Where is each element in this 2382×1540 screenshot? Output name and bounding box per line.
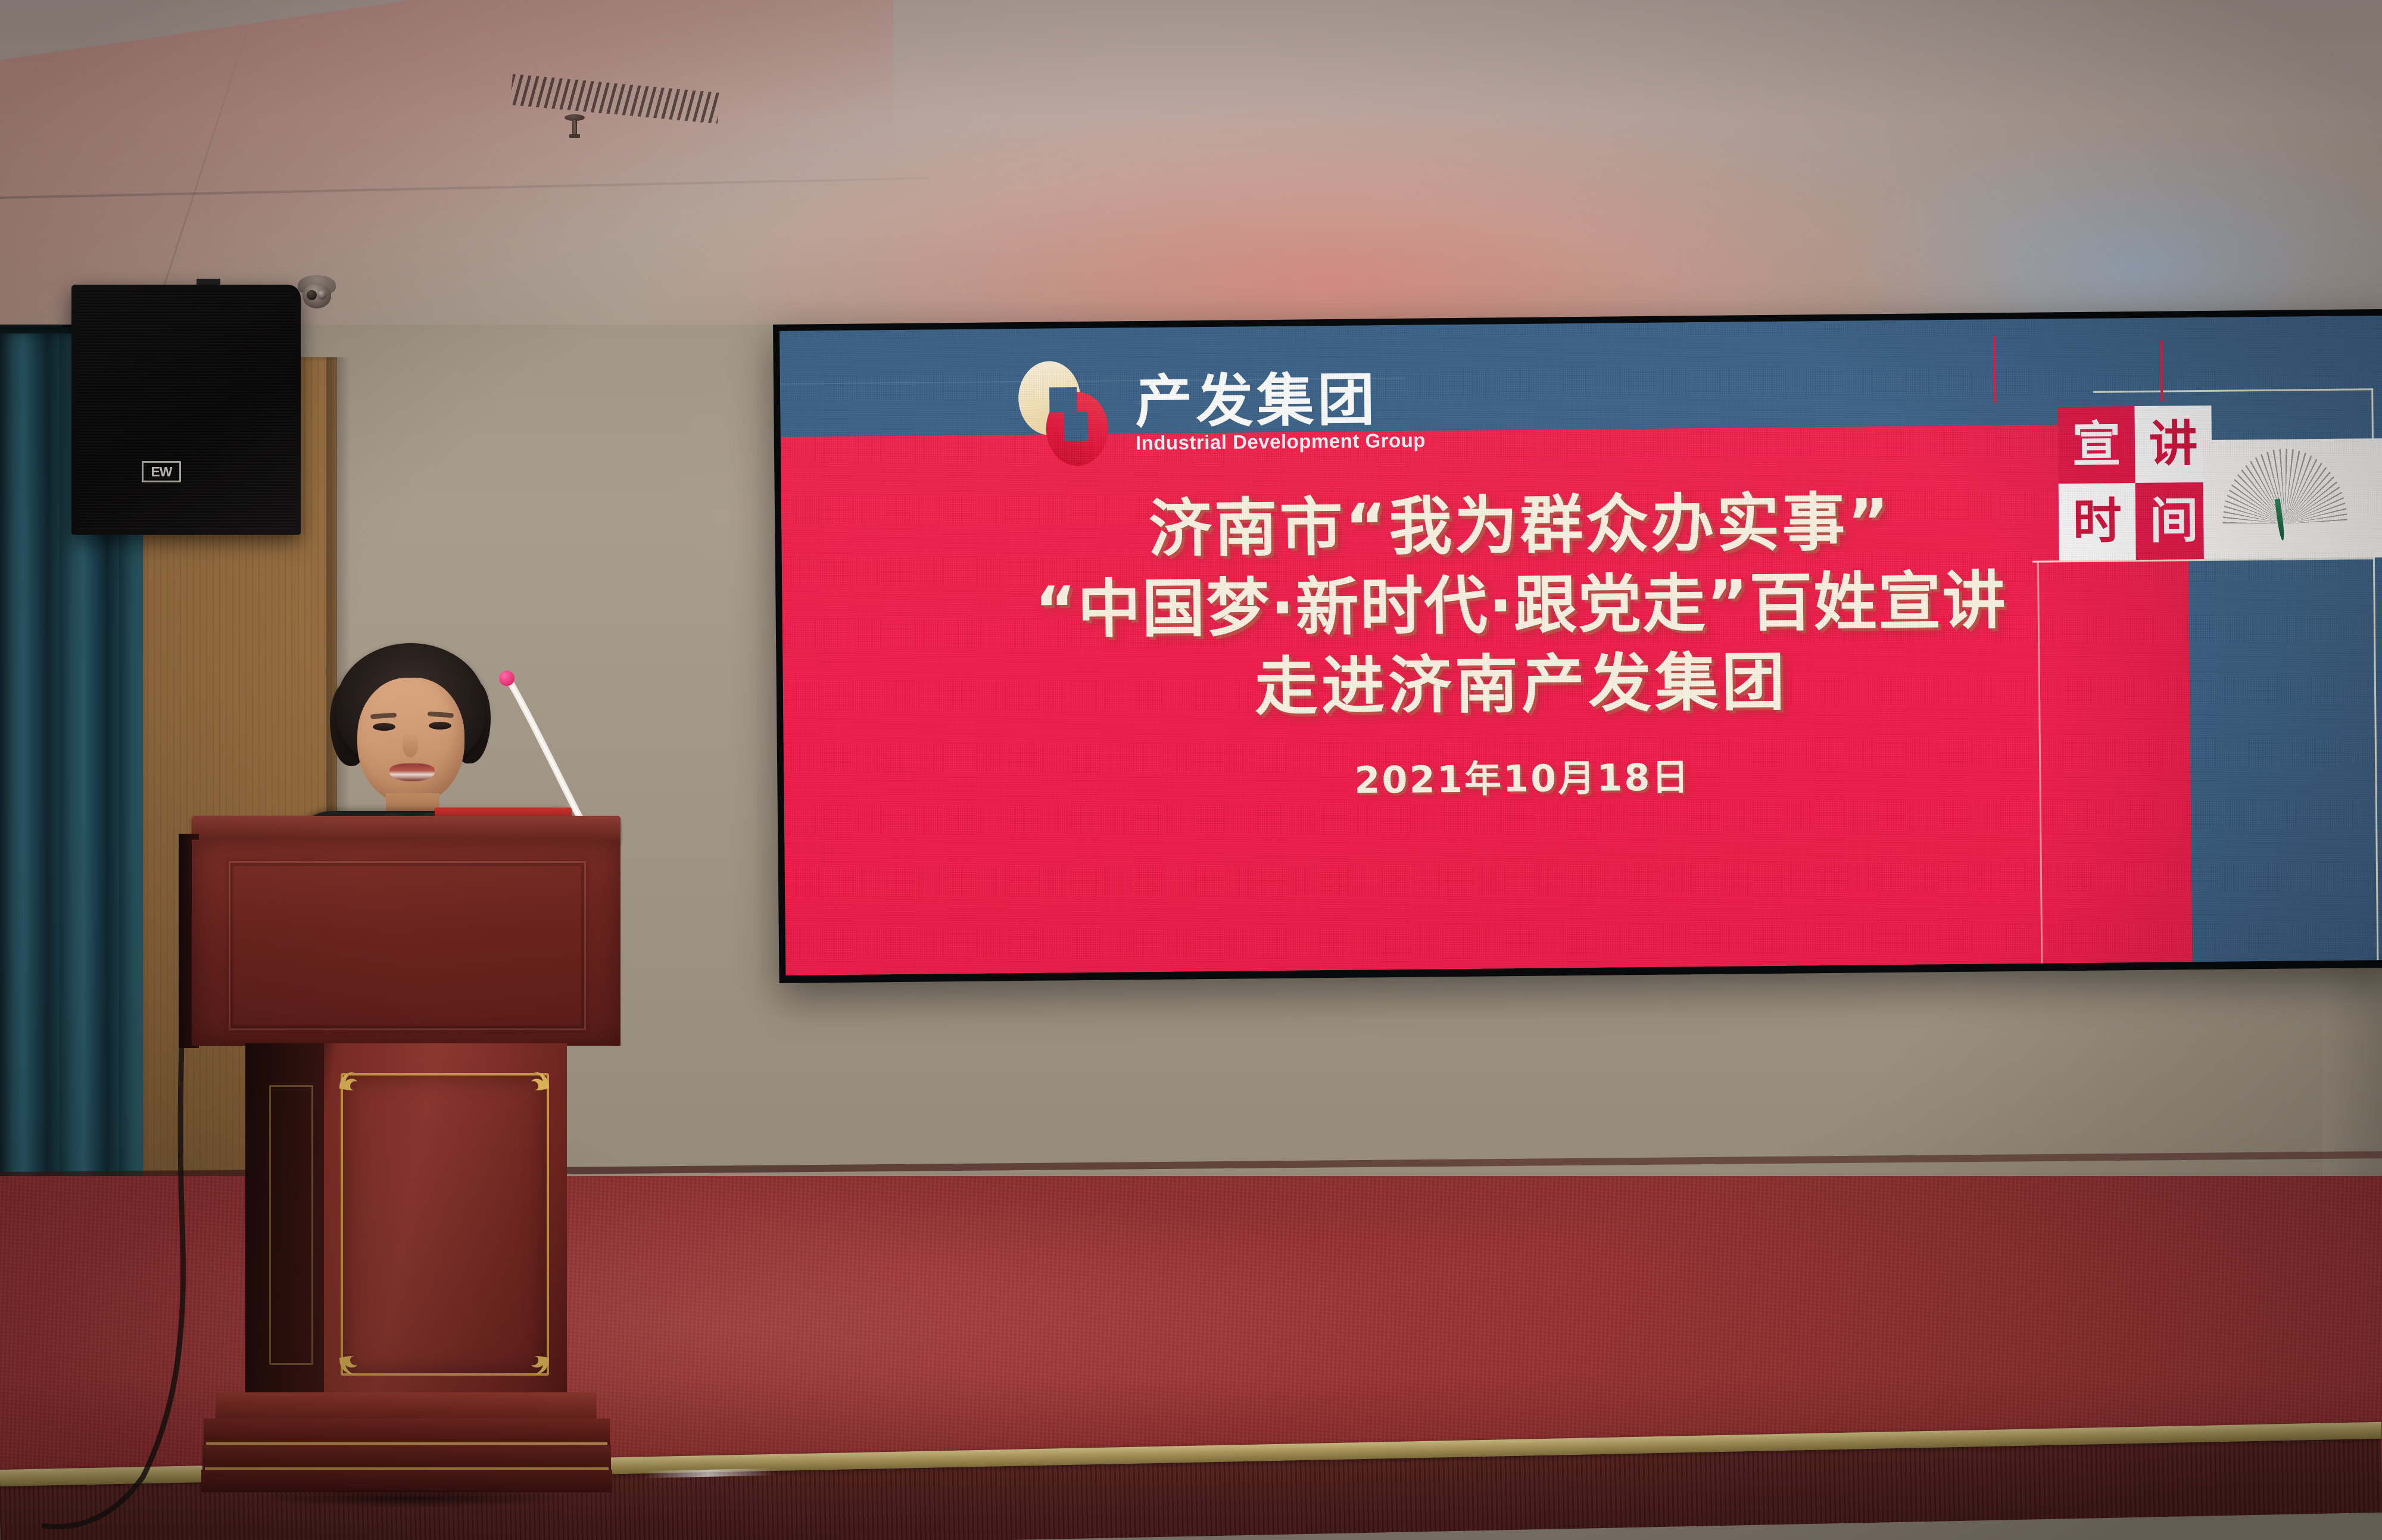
sprinkler-cap bbox=[569, 134, 580, 138]
podium-front-inset-panel bbox=[229, 861, 586, 1030]
slide-title-line-3: 走进济南产发集团 bbox=[925, 639, 2117, 730]
podium-front-gold-panel bbox=[341, 1073, 549, 1376]
led-screen-bezel: 宣 讲 时 间 产发集团 Industrial Develop bbox=[773, 309, 2382, 983]
mouth bbox=[389, 763, 435, 781]
slide-title-line-1: 济南市“我为群众办实事” bbox=[924, 480, 2116, 571]
company-logo-lockup: 产发集团 Industrial Development Group bbox=[1018, 357, 1426, 466]
eye-left bbox=[373, 723, 395, 731]
security-camera-icon bbox=[298, 275, 336, 312]
nose bbox=[403, 732, 418, 757]
podium-front-face bbox=[192, 840, 621, 1046]
podium-base-tier-3 bbox=[202, 1445, 611, 1470]
logo-notch-upper bbox=[1049, 387, 1077, 412]
company-name-cn: 产发集团 bbox=[1135, 370, 1426, 431]
podium-side-gold-panel bbox=[269, 1085, 313, 1365]
ceiling-led-glow bbox=[357, 0, 2382, 333]
emblem-cell-jian: 间 bbox=[2135, 482, 2213, 560]
emblem-cell-xuan: 宣 bbox=[2057, 406, 2135, 484]
slide-title-block: 济南市“我为群众办实事” “中国梦·新时代·跟党走”百姓宣讲 走进济南产发集团 … bbox=[924, 480, 2118, 808]
ceiling bbox=[0, 0, 2382, 333]
company-logo-mark-icon bbox=[1018, 361, 1110, 466]
slide-title-line-2: “中国梦·新时代·跟党走”百姓宣讲 bbox=[925, 560, 2116, 651]
fan-rays-icon bbox=[2222, 448, 2347, 525]
speaker-podium bbox=[179, 816, 631, 1501]
company-logo-text: 产发集团 Industrial Development Group bbox=[1135, 370, 1426, 453]
led-screen: 宣 讲 时 间 产发集团 Industrial Develop bbox=[780, 316, 2382, 975]
slide-date: 2021年10月18日 bbox=[927, 743, 2118, 808]
camera-lens-left bbox=[307, 290, 317, 300]
pa-speaker-cabinet: EW bbox=[71, 285, 301, 535]
emblem-cell-jiang: 讲 bbox=[2134, 406, 2212, 483]
camera-lens-right bbox=[317, 290, 327, 300]
podium-floor-shadow bbox=[185, 1486, 637, 1510]
fire-sprinkler-icon bbox=[565, 114, 585, 143]
conference-hall-photo: EW 宣 讲 时 间 bbox=[0, 0, 2382, 1540]
podium-base-tier-1 bbox=[216, 1392, 597, 1421]
company-name-en: Industrial Development Group bbox=[1136, 430, 1426, 453]
podium-base-tier-2 bbox=[204, 1419, 610, 1445]
speaker-grille bbox=[77, 291, 295, 529]
logo-notch-lower bbox=[1064, 412, 1087, 441]
eye-right bbox=[429, 722, 451, 730]
emblem-fan-graphic bbox=[2203, 438, 2382, 559]
speaker-brand-badge: EW bbox=[142, 461, 181, 482]
sprinkler-stem bbox=[572, 120, 577, 135]
